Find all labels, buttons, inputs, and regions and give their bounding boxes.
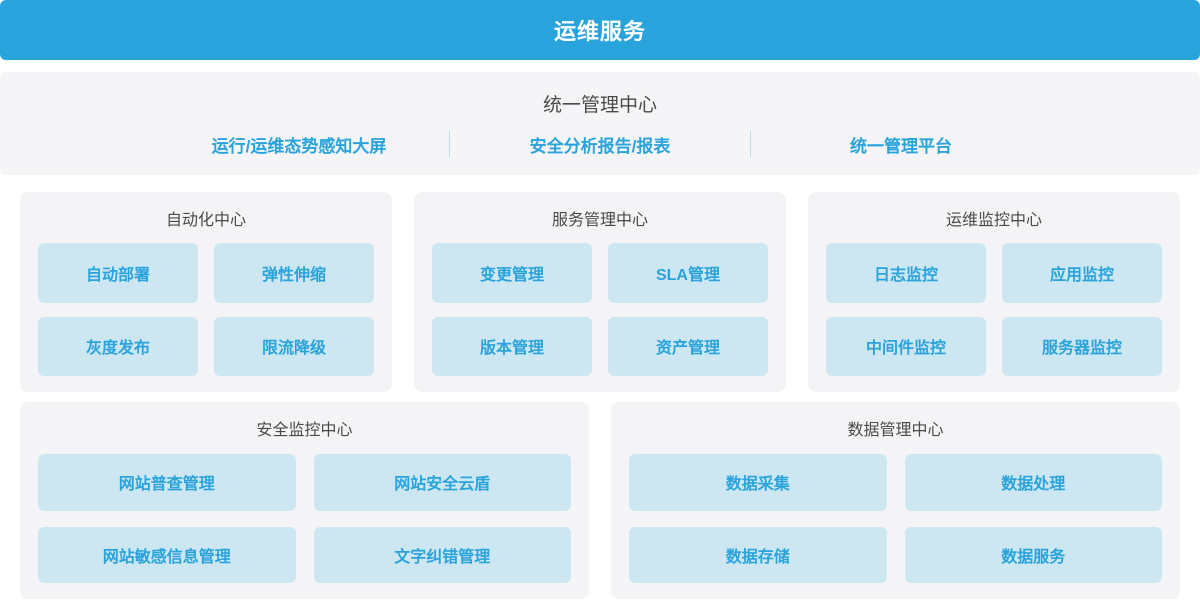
unified-management-center-links: 运行/运维态势感知大屏 安全分析报告/报表 统一管理平台 xyxy=(0,131,1200,157)
mgmt-link-unified-management-platform[interactable]: 统一管理平台 xyxy=(751,132,1051,157)
card-title: 安全监控中心 xyxy=(256,416,352,440)
pill-item[interactable]: 数据处理 xyxy=(905,454,1163,511)
card-item-grid: 自动部署 弹性伸缩 灰度发布 限流降级 xyxy=(38,243,374,376)
card-automation-center: 自动化中心 自动部署 弹性伸缩 灰度发布 限流降级 xyxy=(20,192,392,392)
mgmt-link-situational-awareness-screen[interactable]: 运行/运维态势感知大屏 xyxy=(149,132,449,157)
card-operations-monitoring-center: 运维监控中心 日志监控 应用监控 中间件监控 服务器监控 xyxy=(808,192,1180,392)
pill-item[interactable]: 弹性伸缩 xyxy=(214,243,374,303)
mgmt-link-security-analysis-report[interactable]: 安全分析报告/报表 xyxy=(450,132,750,157)
pill-item[interactable]: 版本管理 xyxy=(432,317,592,377)
page-header-banner: 运维服务 xyxy=(0,0,1200,60)
pill-item[interactable]: SLA管理 xyxy=(608,243,768,303)
pill-item[interactable]: 网站安全云盾 xyxy=(314,454,572,511)
pill-item[interactable]: 数据存储 xyxy=(629,527,887,584)
card-title: 服务管理中心 xyxy=(552,206,648,230)
center-row-bottom: 安全监控中心 网站普查管理 网站安全云盾 网站敏感信息管理 文字纠错管理 数据管… xyxy=(0,402,1200,599)
card-title: 运维监控中心 xyxy=(946,206,1042,230)
pill-item[interactable]: 数据采集 xyxy=(629,454,887,511)
pill-item[interactable]: 日志监控 xyxy=(826,243,986,303)
pill-item[interactable]: 限流降级 xyxy=(214,317,374,377)
unified-management-center-title: 统一管理中心 xyxy=(543,90,657,117)
pill-item[interactable]: 灰度发布 xyxy=(38,317,198,377)
card-item-grid: 变更管理 SLA管理 版本管理 资产管理 xyxy=(432,243,768,376)
pill-item[interactable]: 数据服务 xyxy=(905,527,1163,584)
card-security-monitoring-center: 安全监控中心 网站普查管理 网站安全云盾 网站敏感信息管理 文字纠错管理 xyxy=(20,402,589,599)
card-title: 数据管理中心 xyxy=(847,416,943,440)
operations-service-architecture-page: 运维服务 统一管理中心 运行/运维态势感知大屏 安全分析报告/报表 统一管理平台… xyxy=(0,0,1200,602)
card-title: 自动化中心 xyxy=(166,206,246,230)
card-item-grid: 数据采集 数据处理 数据存储 数据服务 xyxy=(629,454,1162,583)
pill-item[interactable]: 中间件监控 xyxy=(826,317,986,377)
page-title: 运维服务 xyxy=(554,14,646,46)
pill-item[interactable]: 资产管理 xyxy=(608,317,768,377)
center-row-top: 自动化中心 自动部署 弹性伸缩 灰度发布 限流降级 服务管理中心 变更管理 SL… xyxy=(0,192,1200,392)
pill-item[interactable]: 服务器监控 xyxy=(1002,317,1162,377)
card-data-management-center: 数据管理中心 数据采集 数据处理 数据存储 数据服务 xyxy=(611,402,1180,599)
pill-item[interactable]: 网站普查管理 xyxy=(38,454,296,511)
card-item-grid: 网站普查管理 网站安全云盾 网站敏感信息管理 文字纠错管理 xyxy=(38,454,571,583)
pill-item[interactable]: 应用监控 xyxy=(1002,243,1162,303)
card-service-management-center: 服务管理中心 变更管理 SLA管理 版本管理 资产管理 xyxy=(414,192,786,392)
pill-item[interactable]: 文字纠错管理 xyxy=(314,527,572,584)
pill-item[interactable]: 自动部署 xyxy=(38,243,198,303)
pill-item[interactable]: 变更管理 xyxy=(432,243,592,303)
unified-management-center-panel: 统一管理中心 运行/运维态势感知大屏 安全分析报告/报表 统一管理平台 xyxy=(0,72,1200,175)
pill-item[interactable]: 网站敏感信息管理 xyxy=(38,527,296,584)
card-item-grid: 日志监控 应用监控 中间件监控 服务器监控 xyxy=(826,243,1162,376)
